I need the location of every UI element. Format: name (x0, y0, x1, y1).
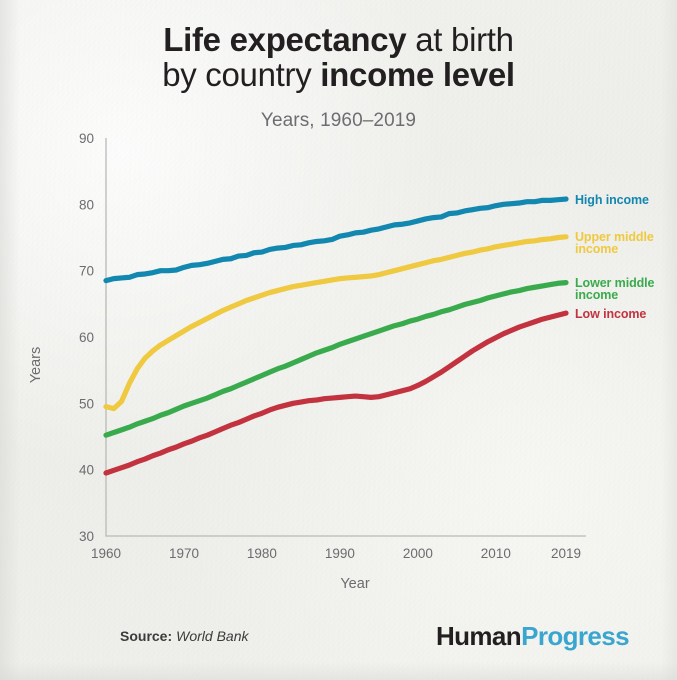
x-axis-tick-labels: 1960197019801990200020102019 (91, 546, 581, 561)
brand-logo-human: Human (436, 621, 521, 651)
chart-footer: Source:World Bank HumanProgress (0, 624, 677, 654)
source-credit: Source:World Bank (120, 628, 248, 644)
y-tick-label: 90 (79, 131, 94, 146)
legend-label: Lower middleincome (575, 277, 677, 302)
line-chart-svg: 30405060708090 1960197019801990200020102… (0, 0, 677, 680)
source-value: World Bank (176, 628, 248, 644)
title-line-2-bold: income level (320, 56, 515, 93)
x-axis-title: Year (340, 576, 369, 592)
infographic-card: Life expectancy at birth by country inco… (0, 0, 677, 680)
y-tick-label: 40 (79, 463, 94, 478)
brand-logo-progress: Progress (521, 621, 629, 651)
title-line-1-regular: at birth (406, 21, 513, 58)
brand-logo[interactable]: HumanProgress (436, 621, 629, 652)
series-line-upper-middle-income (106, 237, 566, 409)
title-line-1: Life expectancy at birth (0, 22, 677, 57)
x-tick-label: 1960 (91, 546, 121, 561)
source-label: Source: (120, 628, 172, 644)
x-tick-label: 2010 (481, 546, 511, 561)
series-line-high-income (106, 199, 566, 281)
legend-label: Low income (575, 308, 677, 321)
legend-item-upper-middle[interactable]: Upper middleincome (575, 231, 677, 256)
data-series-group (106, 199, 566, 473)
x-tick-label: 1980 (247, 546, 277, 561)
y-axis-tick-labels: 30405060708090 (79, 131, 94, 544)
y-tick-label: 60 (79, 330, 94, 345)
x-tick-label: 2000 (403, 546, 433, 561)
legend-label-line-1: High income (575, 193, 649, 207)
x-tick-label: 1990 (325, 546, 355, 561)
page-title: Life expectancy at birth by country inco… (0, 22, 677, 92)
legend-label: High income (575, 194, 677, 207)
legend-label-line-1: Low income (575, 307, 646, 321)
y-tick-label: 30 (79, 529, 94, 544)
legend-label: Upper middleincome (575, 231, 677, 256)
chart-subtitle: Years, 1960–2019 (0, 110, 677, 132)
y-tick-label: 70 (79, 264, 94, 279)
y-tick-label: 50 (79, 396, 94, 411)
legend-item-low-income[interactable]: Low income (575, 308, 677, 321)
title-line-2: by country income level (0, 57, 677, 92)
y-axis-title: Years (28, 347, 44, 384)
x-tick-label: 2019 (551, 546, 581, 561)
x-tick-label: 1970 (169, 546, 199, 561)
title-line-1-bold: Life expectancy (163, 21, 406, 58)
legend-label-line-2: income (575, 243, 677, 256)
title-line-2-regular: by country (162, 56, 320, 93)
legend-item-lower-middle[interactable]: Lower middleincome (575, 277, 677, 302)
chart-plot-area: 30405060708090 1960197019801990200020102… (0, 0, 677, 680)
legend-item-high-income[interactable]: High income (575, 194, 677, 207)
y-tick-label: 80 (79, 197, 94, 212)
legend-label-line-2: income (575, 289, 677, 302)
series-line-lower-middle-income (106, 283, 566, 436)
